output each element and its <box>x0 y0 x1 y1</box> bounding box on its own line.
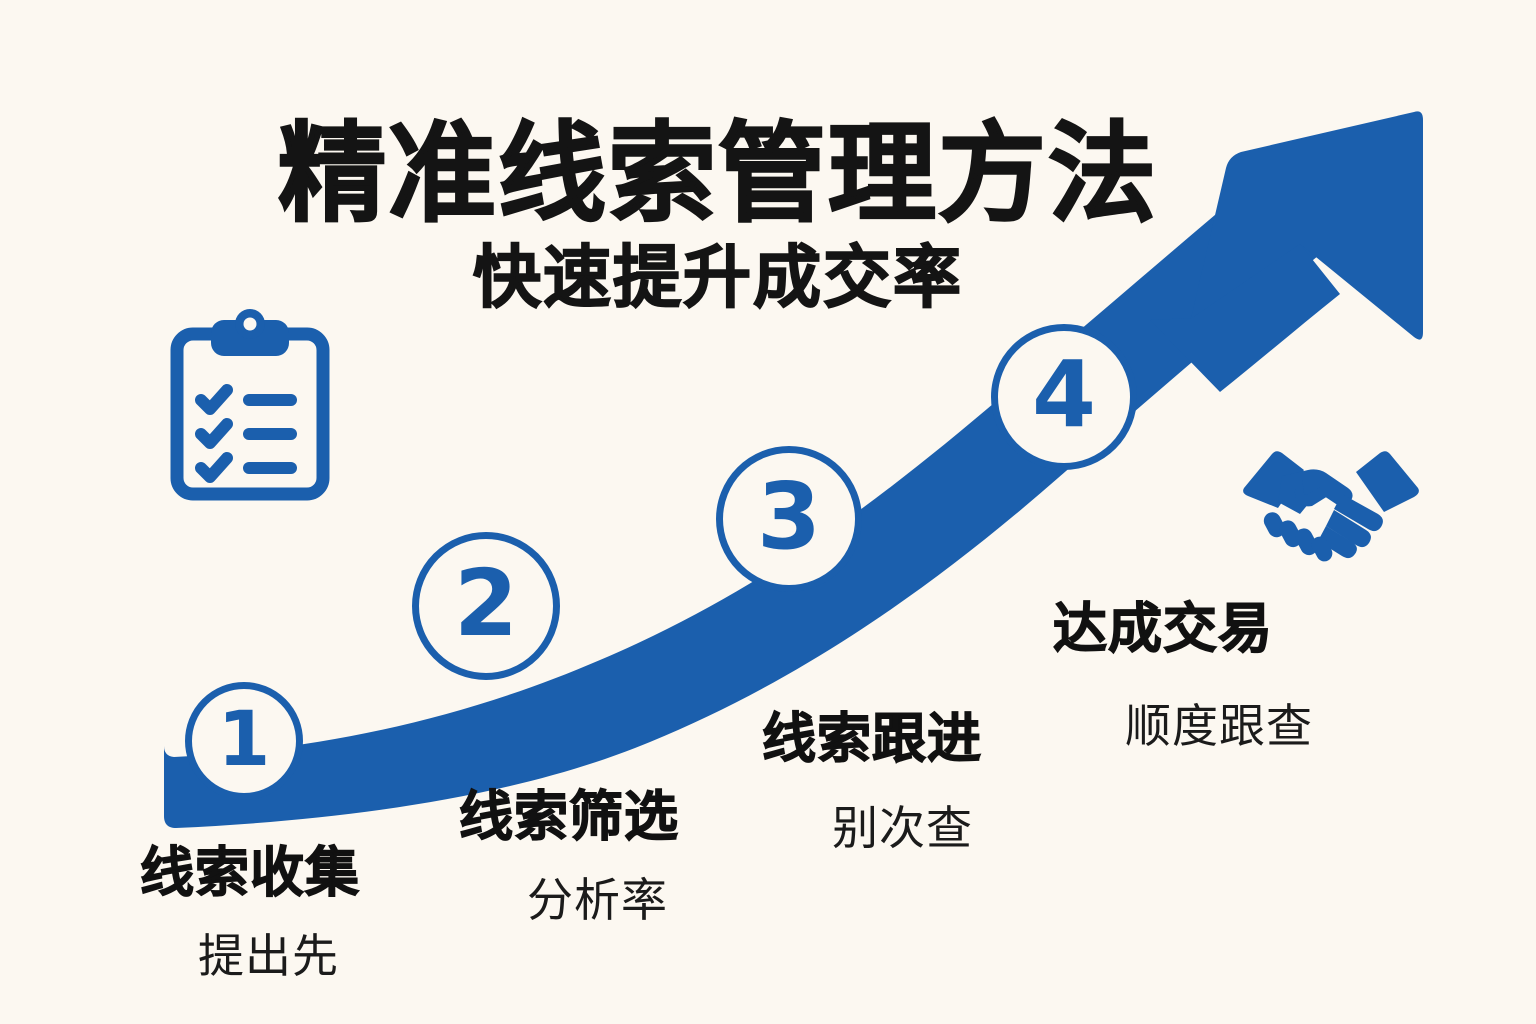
step-label-1: 线索收集 <box>140 828 360 907</box>
step-sublabel-1: 提出先 <box>198 920 339 986</box>
clipboard-checklist-icon <box>165 308 335 504</box>
step-badge-4[interactable]: 4 <box>991 324 1137 470</box>
page-title: 精准线索管理方法 <box>0 118 1436 232</box>
step-label-3: 线索跟进 <box>762 694 982 773</box>
step-badge-2-number: 2 <box>454 550 518 657</box>
handshake-icon <box>1238 440 1424 568</box>
step-badge-4-number: 4 <box>1032 341 1096 448</box>
step-sublabel-2: 分析率 <box>527 864 668 930</box>
infographic-canvas: 精准线索管理方法 快速提升成交率 1 2 3 4 线索收集 提出先 线索筛选 分… <box>0 0 1536 1024</box>
step-label-2: 线索筛选 <box>459 772 679 851</box>
step-sublabel-3: 别次查 <box>832 792 973 858</box>
step-badge-3[interactable]: 3 <box>716 446 862 592</box>
step-badge-1-number: 1 <box>218 694 271 783</box>
step-badge-1[interactable]: 1 <box>185 682 303 800</box>
page-subtitle: 快速提升成交率 <box>0 242 1436 317</box>
step-badge-2[interactable]: 2 <box>412 532 560 680</box>
step-badge-3-number: 3 <box>757 463 821 570</box>
step-label-4: 达成交易 <box>1053 584 1273 663</box>
step-sublabel-4: 顺度跟查 <box>1125 690 1313 756</box>
